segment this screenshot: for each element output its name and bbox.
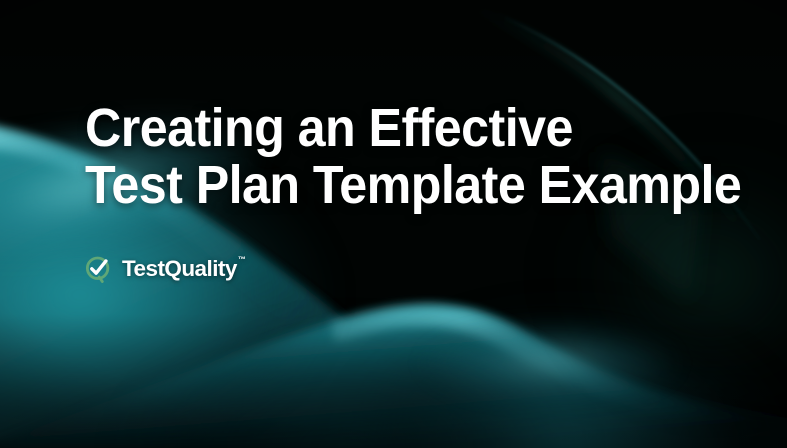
page-title-line-1: Creating an Effective bbox=[85, 100, 699, 157]
testquality-logo: TestQuality™ bbox=[84, 255, 245, 284]
check-circle-icon bbox=[84, 255, 113, 284]
logo-trademark-symbol: ™ bbox=[238, 255, 246, 264]
title-card: Creating an Effective Test Plan Template… bbox=[0, 0, 787, 448]
page-title: Creating an Effective Test Plan Template… bbox=[85, 100, 745, 214]
logo-wordmark: TestQuality™ bbox=[122, 258, 245, 281]
logo-wordmark-text: TestQuality bbox=[122, 256, 237, 281]
logo-checkmark bbox=[92, 261, 106, 273]
content-layer: Creating an Effective Test Plan Template… bbox=[0, 0, 787, 448]
page-title-line-2: Test Plan Template Example bbox=[85, 157, 699, 214]
